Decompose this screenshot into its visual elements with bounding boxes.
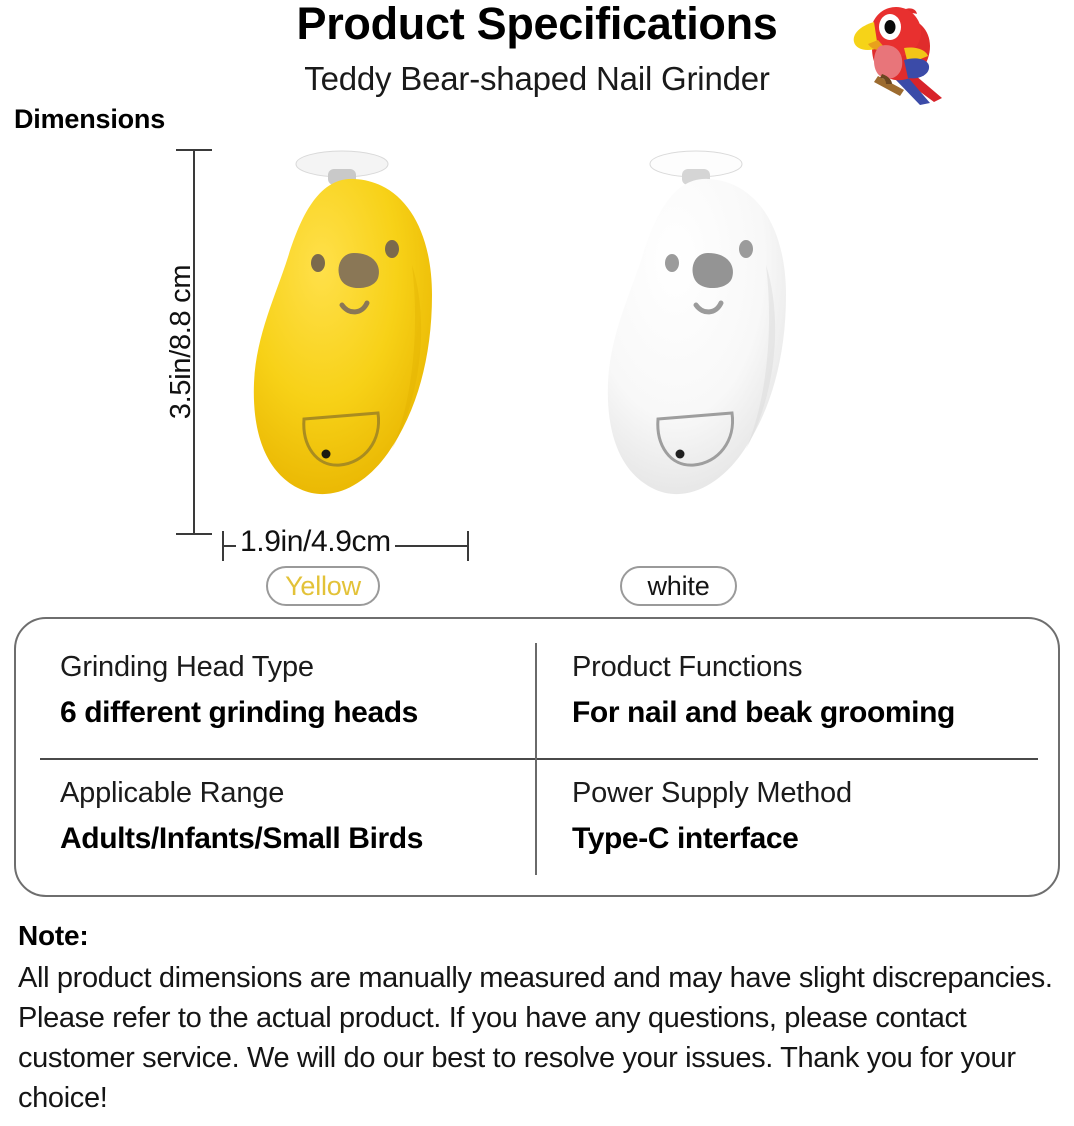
color-chip-yellow[interactable]: Yellow xyxy=(266,566,380,606)
spec-cell-power-supply-method: Power Supply Method Type-C interface xyxy=(572,777,1042,856)
spec-label: Power Supply Method xyxy=(572,777,1042,810)
product-image-yellow xyxy=(236,145,456,540)
spec-value: For nail and beak grooming xyxy=(572,696,1042,730)
height-dimension-tick-bottom xyxy=(176,533,212,535)
spec-value: 6 different grinding heads xyxy=(60,696,530,730)
table-column-divider xyxy=(535,643,537,875)
spec-value: Adults/Infants/Small Birds xyxy=(60,822,530,856)
product-specification-page: Product Specifications Teddy Bear-shaped… xyxy=(0,0,1074,1126)
spec-cell-grinding-head-type: Grinding Head Type 6 different grinding … xyxy=(60,651,530,730)
spec-label: Grinding Head Type xyxy=(60,651,530,684)
note-section: Note: All product dimensions are manuall… xyxy=(18,920,1058,1118)
parrot-icon xyxy=(838,2,950,107)
width-dimension-cap-right xyxy=(467,531,469,561)
color-chip-white[interactable]: white xyxy=(620,566,737,606)
page-header: Product Specifications Teddy Bear-shaped… xyxy=(0,0,1074,110)
dimensions-heading: Dimensions xyxy=(14,104,165,135)
note-body: All product dimensions are manually meas… xyxy=(18,958,1058,1118)
spec-label: Applicable Range xyxy=(60,777,530,810)
product-image-white xyxy=(592,145,812,540)
table-row-divider xyxy=(40,758,1038,760)
spec-value: Type-C interface xyxy=(572,822,1042,856)
note-title: Note: xyxy=(18,920,1058,952)
spec-label: Product Functions xyxy=(572,651,1042,684)
color-chip-yellow-label: Yellow xyxy=(285,571,361,602)
height-dimension-label: 3.5in/8.8 cm xyxy=(165,222,198,462)
color-chip-white-label: white xyxy=(647,571,709,602)
specification-table: Grinding Head Type 6 different grinding … xyxy=(14,617,1060,897)
spec-cell-applicable-range: Applicable Range Adults/Infants/Small Bi… xyxy=(60,777,530,856)
spec-cell-product-functions: Product Functions For nail and beak groo… xyxy=(572,651,1042,730)
width-dimension-cap-left xyxy=(222,531,224,561)
